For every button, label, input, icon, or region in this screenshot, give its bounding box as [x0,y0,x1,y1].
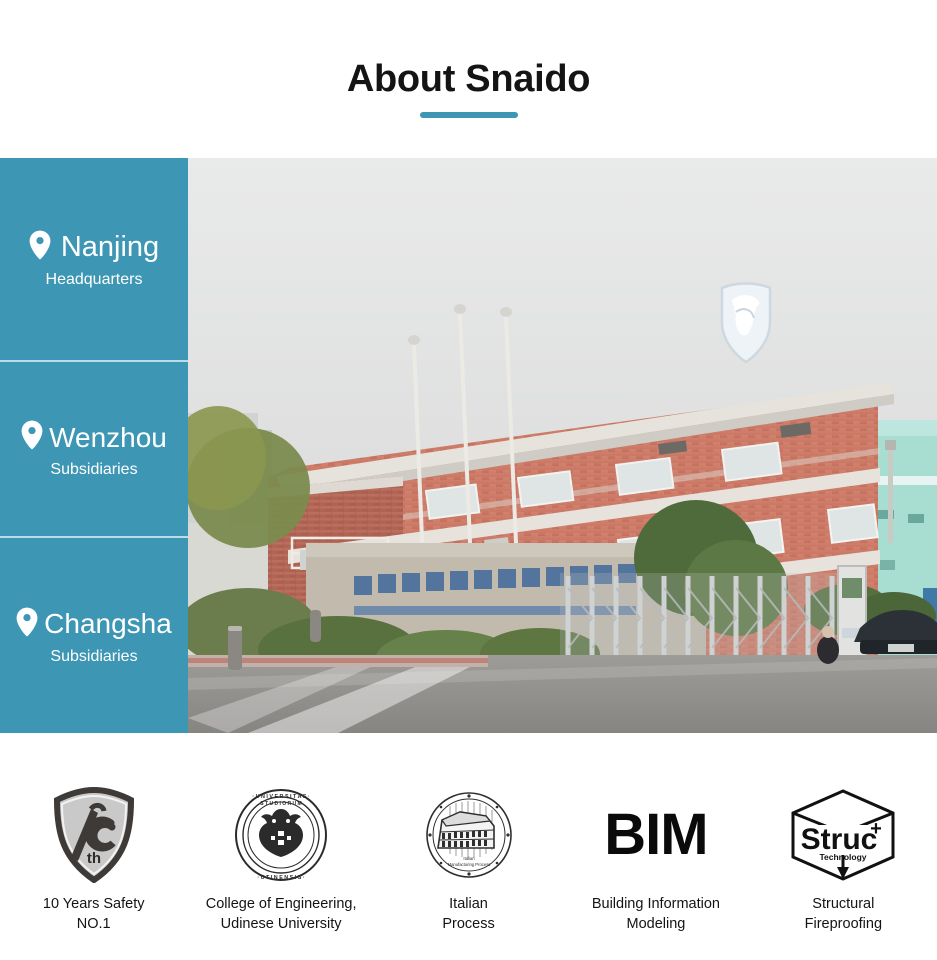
credential-item[interactable]: th 10 Years Safety NO.1 [0,733,187,960]
svg-text:· U N I V E R S I T A S ·: · U N I V E R S I T A S · [252,794,310,800]
bim-wordmark-text: BIM [604,806,707,864]
credential-label: 10 Years Safety NO.1 [43,895,145,934]
struc-box-icon: Struc + Technology [789,785,897,885]
svg-text:· U T I N E N S I S ·: · U T I N E N S I S · [257,875,305,881]
university-seal-icon: · U N I V E R S I T A S · · U T I N E N … [233,785,329,885]
plus-icon: + [870,818,882,840]
location-headline: Nanjing [29,230,159,265]
page-title: About Snaido [0,58,937,101]
credential-item[interactable]: Italian Manufacturing Process Italian Pr… [375,733,562,960]
sidebar-item-changsha[interactable]: Changsha Subsidiaries [0,536,188,733]
credential-label: College of Engineering, Udinese Universi… [206,895,357,934]
location-name: Nanjing [61,233,159,262]
credential-label: Structural Fireproofing [805,895,882,934]
sidebar-item-wenzhou[interactable]: Wenzhou Subsidiaries [0,360,188,536]
location-role: Headquarters [46,272,143,288]
svg-text:S T U D I O R U M: S T U D I O R U M [260,801,301,807]
location-headline: Changsha [16,607,172,642]
headquarters-photo: 26 [188,158,937,733]
map-pin-icon [21,420,43,455]
credentials-strip: th 10 Years Safety NO.1 [0,733,937,960]
page-header: About Snaido [0,0,937,158]
struc-mark-subtext: Technology [820,852,867,862]
credential-label: Italian Process [442,895,494,934]
credential-item[interactable]: Struc + Technology Structural Fireproofi… [750,733,937,960]
about-page: About Snaido Nanjing Headquarters [0,0,937,960]
location-name: Wenzhou [49,424,167,452]
map-pin-icon [16,607,38,642]
colosseum-seal-icon: Italian Manufacturing Process [424,785,514,885]
sidebar-item-nanjing[interactable]: Nanjing Headquarters [0,158,188,360]
location-role: Subsidiaries [50,649,137,665]
credential-item[interactable]: BIM Building Information Modeling [562,733,749,960]
locations-sidebar: Nanjing Headquarters Wenzhou Subsidiarie… [0,158,188,733]
svg-text:Manufacturing Process: Manufacturing Process [447,862,490,867]
credential-label: Building Information Modeling [592,895,720,934]
svg-text:Italian: Italian [463,856,475,861]
location-headline: Wenzhou [21,420,167,455]
location-name: Changsha [44,610,172,638]
title-underline-rule [420,112,518,118]
safety-shield-icon: th [51,785,137,885]
credential-item[interactable]: · U N I V E R S I T A S · · U T I N E N … [187,733,374,960]
safety-shield-mark-text: th [87,850,101,867]
location-role: Subsidiaries [50,462,137,478]
bim-wordmark: BIM [604,785,707,885]
map-pin-icon [29,230,51,265]
